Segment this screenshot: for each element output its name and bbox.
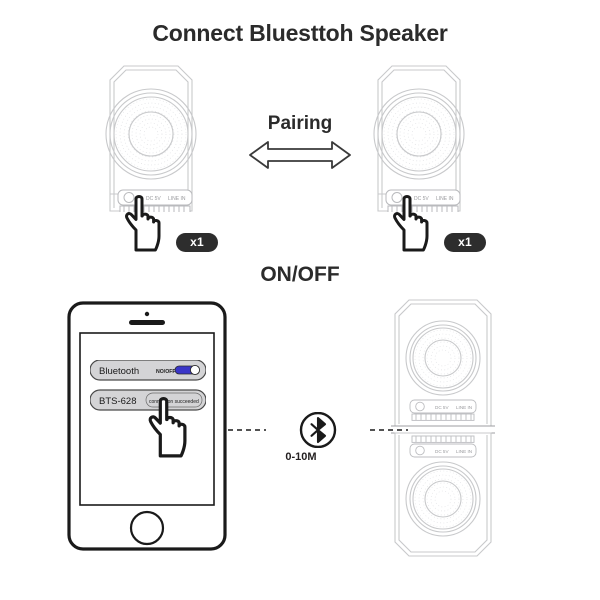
pairing-double-arrow-icon	[246, 138, 354, 172]
svg-text:LINE IN: LINE IN	[456, 449, 472, 454]
home-button	[131, 512, 163, 544]
row-label-bluetooth: Bluetooth	[99, 366, 139, 377]
port-label-line: LINE IN	[168, 196, 186, 202]
svg-text:LINE IN: LINE IN	[456, 405, 472, 410]
toggle-knob	[190, 365, 199, 374]
speaker-stack-seam	[391, 426, 495, 433]
svg-text:DC 5V: DC 5V	[435, 449, 449, 454]
press-count-badge-right: x1	[444, 233, 486, 252]
press-count-badge-left: x1	[176, 233, 218, 252]
page-title: Connect Bluesttoh Speaker	[0, 20, 600, 47]
row-label-device: BTS-628	[99, 396, 137, 407]
hand-pointer-left[interactable]	[122, 194, 170, 252]
range-label: 0-10M	[265, 451, 337, 463]
bluetooth-connection-link	[228, 412, 408, 448]
front-camera-icon	[145, 312, 149, 316]
onoff-label: ON/OFF	[230, 263, 370, 287]
speaker-stack: DC 5V LINE IN	[383, 296, 503, 560]
svg-text:DC 5V: DC 5V	[435, 405, 449, 410]
earpiece-icon	[129, 320, 165, 325]
speaker-top-right: DC 5V LINE IN	[356, 62, 482, 212]
svg-text:LINE IN: LINE IN	[436, 196, 454, 202]
hand-pointer-right[interactable]	[390, 194, 438, 252]
toggle-label: NO/OFF	[156, 369, 176, 375]
hand-pointer-phone[interactable]	[145, 396, 197, 458]
illustration-canvas: Connect Bluesttoh Speaker	[0, 0, 600, 600]
speaker-top-left: DC 5V LINE IN	[88, 62, 214, 212]
pairing-label: Pairing	[240, 113, 360, 135]
